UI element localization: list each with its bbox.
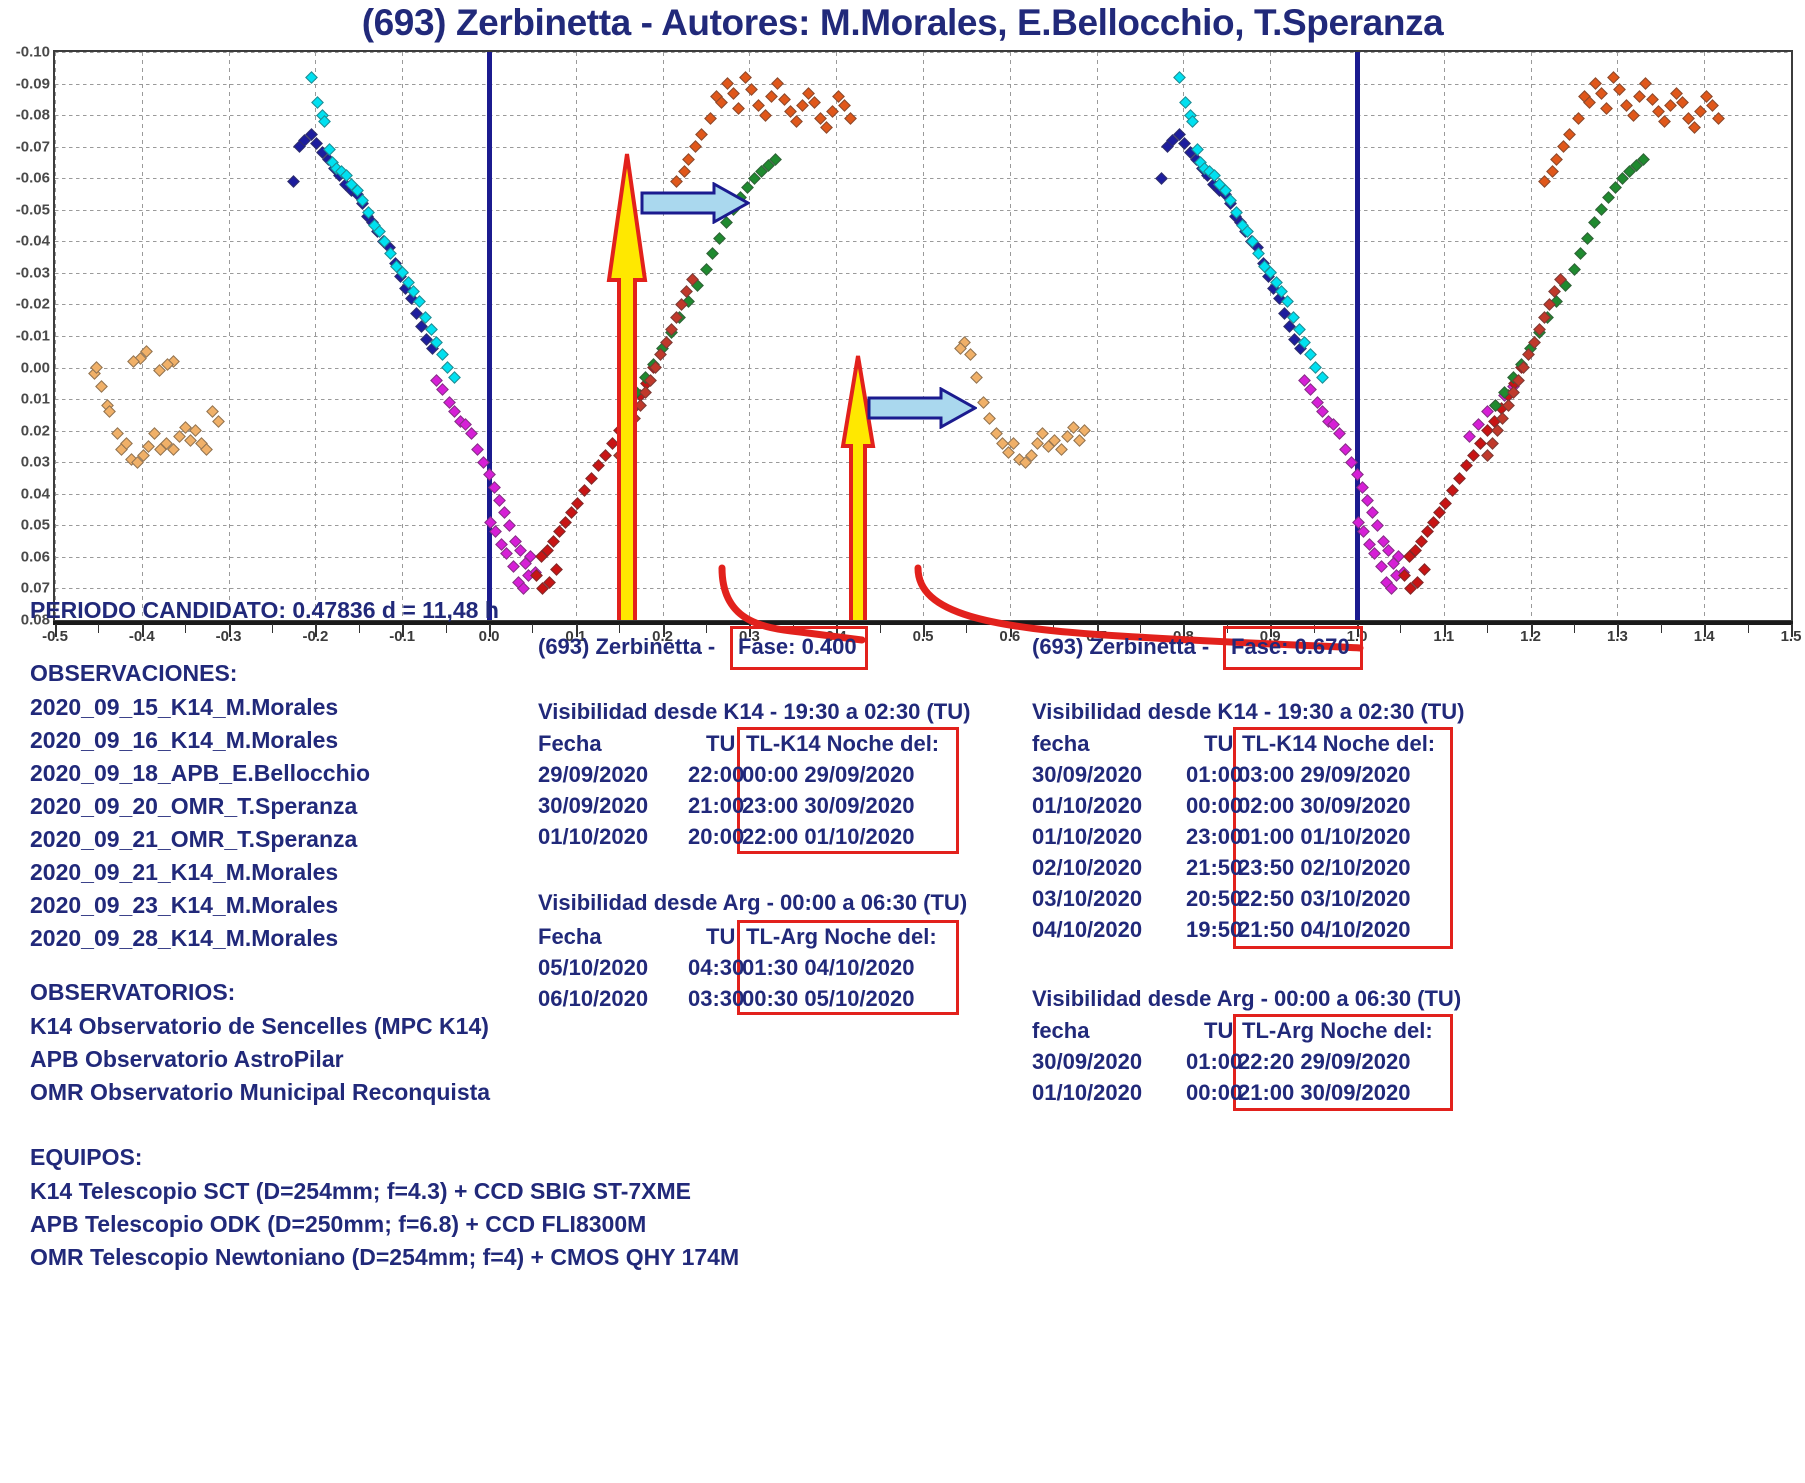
data-point [839,99,852,112]
right-k14-cell-tu: 00:00 [1186,793,1242,819]
data-point [704,112,717,125]
right-k14-cell-fecha: 01/10/2020 [1032,824,1142,850]
data-point [507,560,520,573]
x-tick-label: 1.1 [1433,628,1454,645]
data-point [682,153,695,166]
right-arg-title: Visibilidad desde Arg - 00:00 a 06:30 (T… [1032,986,1461,1012]
data-point [727,87,740,100]
light-curve-poster: (693) Zerbinetta - Autores: M.Morales, E… [0,0,1805,1483]
right-k14-cell-fecha: 01/10/2020 [1032,793,1142,819]
data-point [1550,153,1563,166]
data-point [1375,560,1388,573]
data-point [1155,172,1168,185]
mid-k14-cell-tl: 22:00 01/10/2020 [742,824,915,850]
data-point [700,263,713,276]
right-k14-cell-fecha: 30/09/2020 [1032,762,1142,788]
gridline-vertical [1444,52,1445,620]
data-point [759,109,772,122]
right-k14-header-tu: TU [1204,731,1233,757]
data-point [820,121,833,134]
data-point [1563,128,1576,141]
y-axis-tick-labels: -0.10-0.09-0.08-0.07-0.06-0.05-0.04-0.03… [0,50,50,622]
data-point [1546,166,1559,179]
gridline-vertical [402,52,403,620]
data-point [681,285,694,298]
data-point [707,248,720,261]
gridline-vertical [1010,52,1011,620]
observacion-item: 2020_09_23_K14_M.Morales [30,892,338,919]
mid-k14-cell-tu: 20:00 [688,824,744,850]
data-point [1627,109,1640,122]
mid-arg-title: Visibilidad desde Arg - 00:00 a 06:30 (T… [538,890,967,916]
data-point [1568,263,1581,276]
mid-k14-cell-tu: 22:00 [688,762,744,788]
observacion-item: 2020_09_28_K14_M.Morales [30,925,338,952]
data-point [678,166,691,179]
mid-arg-header-fecha: Fecha [538,924,602,950]
data-point [448,371,461,384]
data-point [1602,191,1615,204]
y-tick-label: -0.10 [2,44,50,61]
data-point [1572,112,1585,125]
equipo-item: APB Telescopio ODK (D=250mm; f=6.8) + CC… [30,1211,646,1238]
right-k14-cell-fecha: 03/10/2020 [1032,886,1142,912]
y-tick-label: 0.03 [2,454,50,471]
data-point [1646,93,1659,106]
right-arg-cell-tu: 00:00 [1186,1080,1242,1106]
gridline-vertical [836,52,837,620]
y-tick-label: -0.03 [2,264,50,281]
equipo-item: K14 Telescopio SCT (D=254mm; f=4.3) + CC… [30,1178,691,1205]
x-tick-label: 1.4 [1694,628,1715,645]
data-point [844,112,857,125]
data-point [1549,285,1562,298]
x-tick-label: -0.1 [389,628,415,645]
y-tick-label: 0.00 [2,359,50,376]
gridline-vertical [1704,52,1705,620]
observatorio-item: K14 Observatorio de Sencelles (MPC K14) [30,1013,489,1040]
data-point [1361,494,1374,507]
data-point [1481,450,1494,463]
gridline-vertical [1270,52,1271,620]
y-tick-label: -0.02 [2,296,50,313]
right-k14-cell-tl: 01:00 01/10/2020 [1238,824,1411,850]
data-point [745,83,758,96]
mid-object-label: (693) Zerbinetta - [538,634,715,660]
right-k14-cell-tu: 21:50 [1186,855,1242,881]
data-point [550,563,563,576]
data-point [1575,248,1588,261]
data-point [1582,232,1595,245]
data-point [1460,459,1473,472]
gridline-vertical [142,52,143,620]
y-tick-label: -0.06 [2,170,50,187]
right-phase-label: Fase: 0.670 [1231,634,1350,660]
mid-arg-cell-fecha: 05/10/2020 [538,955,648,981]
gridline-vertical [1617,52,1618,620]
data-point [1474,437,1487,450]
data-point [752,99,765,112]
x-axis-tick-labels: -0.5-0.4-0.3-0.2-0.10.00.10.20.30.40.50.… [53,628,1793,654]
data-point [95,380,108,393]
data-point [1371,519,1384,532]
right-k14-cell-fecha: 02/10/2020 [1032,855,1142,881]
data-point [465,427,478,440]
mid-k14-header-tl: TL-K14 Noche del: [746,731,939,757]
y-tick-label: -0.05 [2,201,50,218]
y-tick-label: -0.07 [2,138,50,155]
data-point [1538,175,1551,188]
right-k14-header-tl: TL-K14 Noche del: [1242,731,1435,757]
periodo-candidato: PERIODO CANDIDATO: 0.47836 d = 11,48 h [30,597,499,624]
mid-k14-cell-tl: 00:00 29/09/2020 [742,762,915,788]
right-k14-cell-tu: 20:50 [1186,886,1242,912]
x-tick-label: 0.6 [999,628,1020,645]
data-point [436,349,449,362]
data-point [1446,484,1459,497]
observacion-item: 2020_09_21_K14_M.Morales [30,859,338,886]
right-object-label: (693) Zerbinetta - [1032,634,1209,660]
x-tick-label: -0.3 [216,628,242,645]
y-tick-label: -0.01 [2,328,50,345]
plot-area [53,50,1793,622]
right-arg-header-tu: TU [1204,1018,1233,1044]
x-tick-label: 1.3 [1607,628,1628,645]
y-tick-label: -0.09 [2,75,50,92]
right-arg-cell-fecha: 01/10/2020 [1032,1080,1142,1106]
x-tick-label: 0.5 [913,628,934,645]
data-point [1707,99,1720,112]
data-point [1305,383,1318,396]
equipo-item: OMR Telescopio Newtoniano (D=254mm; f=4)… [30,1244,739,1271]
observatorio-item: APB Observatorio AstroPilar [30,1046,344,1073]
data-point [498,506,511,519]
data-point [790,115,803,128]
right-k14-cell-tu: 23:00 [1186,824,1242,850]
right-arg-cell-tu: 01:00 [1186,1049,1242,1075]
right-arg-cell-tl: 22:20 29/09/2020 [1238,1049,1411,1075]
right-k14-cell-fecha: 04/10/2020 [1032,917,1142,943]
data-point [483,468,496,481]
data-point [1613,83,1626,96]
data-point [1601,102,1614,115]
mid-arg-cell-tl: 01:30 04/10/2020 [742,955,915,981]
y-tick-label: 0.07 [2,580,50,597]
direction-arrow-lower [867,387,977,429]
data-point [714,232,727,245]
data-point [1557,140,1570,153]
observaciones-heading: OBSERVACIONES: [30,660,237,687]
mid-k14-title: Visibilidad desde K14 - 19:30 a 02:30 (T… [538,699,970,725]
mid-arg-header-tl: TL-Arg Noche del: [746,924,937,950]
gridline-vertical [663,52,664,620]
data-point [111,427,124,440]
y-tick-label: 0.05 [2,517,50,534]
x-tick-label: -0.5 [42,628,68,645]
x-tick-label: 0.0 [479,628,500,645]
right-k14-cell-tl: 03:00 29/09/2020 [1238,762,1411,788]
data-point [592,459,605,472]
y-tick-label: 0.02 [2,422,50,439]
gridline-vertical [1531,52,1532,620]
right-arg-cell-tl: 21:00 30/09/2020 [1238,1080,1411,1106]
data-point [1316,371,1329,384]
data-point [733,102,746,115]
right-k14-cell-tl: 23:50 02/10/2020 [1238,855,1411,881]
mid-arg-cell-fecha: 06/10/2020 [538,986,648,1012]
observacion-item: 2020_09_21_OMR_T.Speranza [30,826,357,853]
data-point [977,396,990,409]
data-point [796,99,809,112]
mid-arg-cell-tl: 00:30 05/10/2020 [742,986,915,1012]
observatorio-item: OMR Observatorio Municipal Reconquista [30,1079,490,1106]
x-tick-label: 1.2 [1520,628,1541,645]
data-point [1418,563,1431,576]
data-point [1688,121,1701,134]
mid-k14-header-tu: TU [706,731,735,757]
phase-reference-line [487,52,492,620]
gridline-vertical [1791,52,1792,620]
right-arg-cell-fecha: 30/09/2020 [1032,1049,1142,1075]
right-k14-cell-tl: 02:00 30/09/2020 [1238,793,1411,819]
data-point [1595,203,1608,216]
gridline-vertical [229,52,230,620]
data-point [1351,468,1364,481]
observacion-item: 2020_09_18_APB_E.Bellocchio [30,760,370,787]
data-point [471,443,484,456]
data-point [689,140,702,153]
observacion-item: 2020_09_15_K14_M.Morales [30,694,338,721]
gridline-vertical [749,52,750,620]
gridline-vertical [55,52,56,620]
right-k14-cell-tl: 21:50 04/10/2020 [1238,917,1411,943]
y-tick-label: 0.04 [2,485,50,502]
data-point [503,519,516,532]
right-k14-title: Visibilidad desde K14 - 19:30 a 02:30 (T… [1032,699,1464,725]
direction-arrow-upper [640,182,750,224]
right-k14-header-fecha: fecha [1032,731,1089,757]
data-point [437,383,450,396]
x-tick-label: -0.2 [302,628,328,645]
gridline-vertical [1097,52,1098,620]
data-point [1467,450,1480,463]
data-point [1620,99,1633,112]
data-point [1633,90,1646,103]
data-point [771,77,784,90]
data-point [585,472,598,485]
right-k14-cell-tu: 19:50 [1186,917,1242,943]
data-point [1664,99,1677,112]
data-point [1639,77,1652,90]
gridline-vertical [923,52,924,620]
x-tick-label: -0.4 [129,628,155,645]
data-point [1712,112,1725,125]
data-point [493,494,506,507]
y-tick-label: 0.06 [2,548,50,565]
data-point [148,427,161,440]
right-arg-header-fecha: fecha [1032,1018,1089,1044]
data-point [778,93,791,106]
data-point [1595,87,1608,100]
x-tick-label: 1.5 [1781,628,1802,645]
mid-arg-cell-tu: 04:30 [688,955,744,981]
mid-k14-cell-tl: 23:00 30/09/2020 [742,793,915,819]
data-point [1588,216,1601,229]
data-point [1179,96,1192,109]
right-k14-cell-tu: 01:00 [1186,762,1242,788]
mid-k14-cell-fecha: 01/10/2020 [538,824,648,850]
observatorios-heading: OBSERVATORIOS: [30,979,235,1006]
data-point [983,412,996,425]
page-title: (693) Zerbinetta - Autores: M.Morales, E… [0,2,1805,44]
data-point [1486,437,1499,450]
gridline-vertical [576,52,577,620]
mid-k14-cell-fecha: 29/09/2020 [538,762,648,788]
mid-arg-header-tu: TU [706,924,735,950]
y-tick-label: -0.04 [2,233,50,250]
mid-arg-cell-tu: 03:30 [688,986,744,1012]
data-point [1339,443,1352,456]
data-point [964,349,977,362]
data-point [1658,115,1671,128]
data-point [311,96,324,109]
data-point [1453,472,1466,485]
observacion-item: 2020_09_20_OMR_T.Speranza [30,793,357,820]
y-tick-label: -0.08 [2,107,50,124]
data-point [578,484,591,497]
mid-k14-cell-fecha: 30/09/2020 [538,793,648,819]
mid-phase-label: Fase: 0.400 [738,634,857,660]
right-arg-header-tl: TL-Arg Noche del: [1242,1018,1433,1044]
observacion-item: 2020_09_16_K14_M.Morales [30,727,338,754]
y-tick-label: 0.01 [2,391,50,408]
data-point [695,128,708,141]
right-k14-cell-tl: 22:50 03/10/2020 [1238,886,1411,912]
phase-reference-line [1355,52,1360,620]
data-point [1366,506,1379,519]
data-point [970,371,983,384]
mid-k14-header-fecha: Fecha [538,731,602,757]
mid-k14-cell-tu: 21:00 [688,793,744,819]
data-point [212,415,225,428]
data-point [1056,443,1069,456]
data-point [765,90,778,103]
data-point [1304,349,1317,362]
data-point [1333,427,1346,440]
data-point [287,175,300,188]
equipos-heading: EQUIPOS: [30,1144,142,1171]
